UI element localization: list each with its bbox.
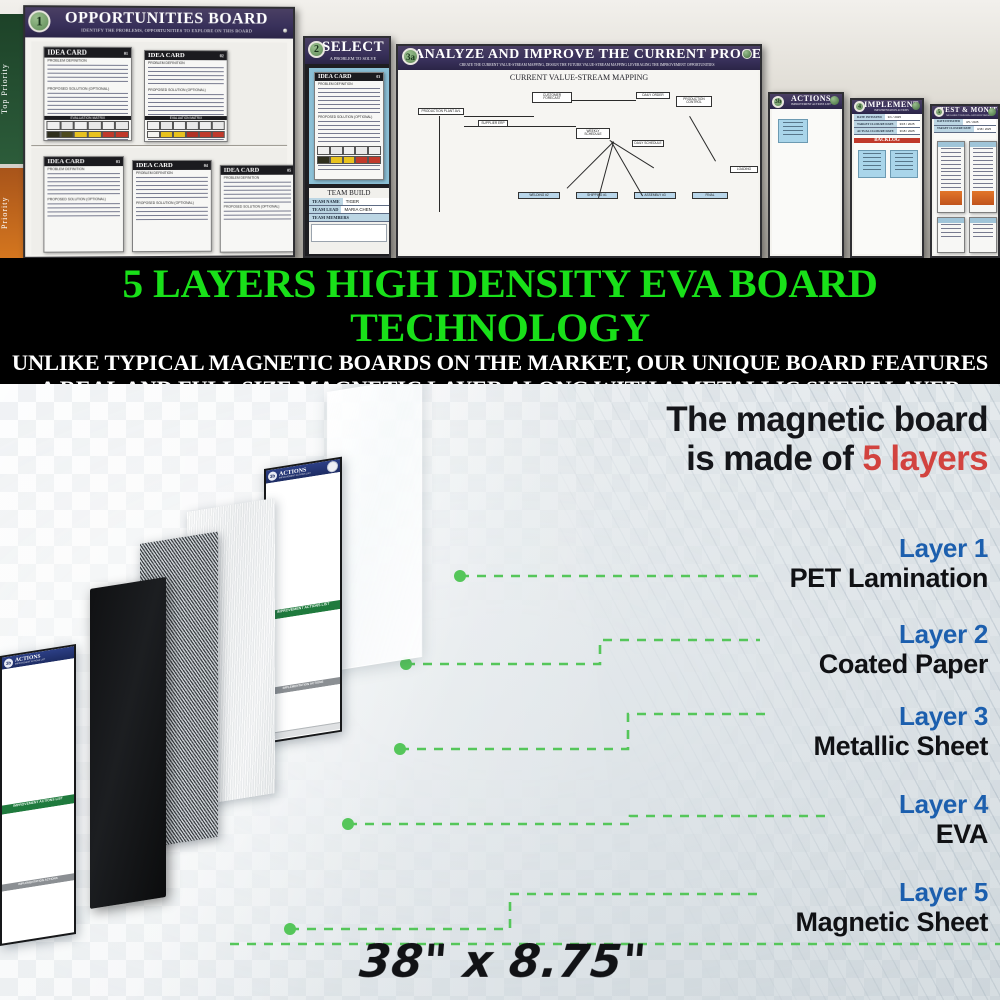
team-row: TEAM NAME TIGER <box>309 198 389 206</box>
printed-board-back-panel-a <box>2 658 74 805</box>
board-4-body: DATE INITIATED 3/1 / 2025 TARGET CLOSURE… <box>854 114 920 254</box>
board-1-row-bottom: IDEA CARD 03 PROBLEM DEFINITION PROPOSED… <box>31 148 287 255</box>
idea-card-section-1: PROBLEM DEFINITION <box>221 175 294 181</box>
layer-5-number: Layer 5 <box>796 878 988 907</box>
diagram-heading-prefix: is made of <box>686 439 862 478</box>
board-3a-subtitle: CREATE THE CURRENT VALUE-STREAM MAPPING,… <box>398 63 760 67</box>
board-implement: 4 IMPLEMENT IMPLEMENTATION ACTIONS DATE … <box>850 98 924 258</box>
idea-card-label: IDEA CARD <box>47 49 86 57</box>
layer-2-coated-paper-board-front: 3b ACTIONS IMPROVEMENT ACTIONS LIST IMPR… <box>264 457 342 744</box>
idea-card: IDEA CARD 02 PROBLEM DEFINITION PROPOSED… <box>144 50 228 142</box>
test-row-label: DATE INITIATED <box>934 119 963 125</box>
idea-card-label: IDEA CARD <box>148 52 185 59</box>
board-select: 2 SELECT A PROBLEM TO SOLVE IDEA CARD 03… <box>303 36 391 258</box>
vsm-node: SUPPLIER ERP <box>478 120 508 127</box>
board-3a-header: 3a ANALYZE AND IMPROVE THE CURRENT PROCE… <box>398 46 760 70</box>
board-3b-header: 3b ACTIONS IMPROVEMENT ACTIONS LIST <box>770 94 842 109</box>
kpi-card <box>937 217 965 253</box>
implement-row: TARGET CLOSURE DATE 3/15 / 2025 <box>854 121 920 128</box>
vsm-node: PRODUCTION PLANT AVL <box>418 108 464 115</box>
vsm-node: PRODUCTION CONTROL <box>676 96 712 107</box>
idea-card-section-2: PROPOSED SOLUTION (OPTIONAL) <box>145 87 227 93</box>
product-infographic: Top Priority Priority 1 OPPORTUNITIES BO… <box>0 0 1000 1000</box>
sticky-note <box>858 150 886 178</box>
kpi-card <box>969 141 997 213</box>
board-4-subtitle: IMPLEMENTATION ACTIONS <box>852 109 922 112</box>
backlog-label: BACKLOG <box>854 138 920 143</box>
idea-card: IDEA CARD 03 PROBLEM DEFINITION PROPOSED… <box>314 72 384 180</box>
board-actions: 3b ACTIONS IMPROVEMENT ACTIONS LIST <box>768 92 844 258</box>
vsm-node: FINAL <box>692 192 728 199</box>
idea-card-section-2: PROPOSED SOLUTION (OPTIONAL) <box>221 204 294 210</box>
board-1-title: OPPORTUNITIES BOARD <box>25 7 293 29</box>
board-3a-magnet-dot <box>742 49 752 59</box>
implement-row-label: TARGET CLOSURE DATE <box>854 121 897 127</box>
board-size-caption: 38" x 8.75" <box>356 935 651 988</box>
printed-board-panel-a <box>266 472 340 612</box>
implement-row-label: ACTUAL CLOSURE DATE <box>854 128 897 134</box>
diagram-heading-line-2: is made of 5 layers <box>666 439 988 478</box>
board-2-card-well: IDEA CARD 03 PROBLEM DEFINITION PROPOSED… <box>309 68 389 184</box>
layer-1-number: Layer 1 <box>790 534 988 563</box>
board-3b-body <box>772 109 840 254</box>
board-opportunities: 1 OPPORTUNITIES BOARD IDENTIFY THE PROBL… <box>23 5 295 258</box>
vsm-node: DAILY SCHEDULE <box>632 140 664 147</box>
idea-card-section-3: EVALUATION MATRIX <box>145 116 227 120</box>
board-test-monitor: 5 TEST & MONITOR MEASURE YOUR KPIs AND B… <box>930 104 1000 258</box>
board-2-header: 2 SELECT A PROBLEM TO SOLVE <box>305 38 389 64</box>
implement-row-value: 3/18 / 2025 <box>897 128 920 134</box>
layers-diagram: 3b ACTIONS IMPROVEMENT ACTIONS LIST IMPR… <box>0 384 1000 1000</box>
kpi-card <box>937 141 965 213</box>
test-row-value: 3/18 / 2025 <box>974 126 996 132</box>
layer-2-number: Layer 2 <box>819 620 988 649</box>
idea-card-label: IDEA CARD <box>224 167 259 174</box>
vsm-node: DAILY ORDER <box>636 92 670 99</box>
idea-card: IDEA CARD 05 PROBLEM DEFINITION PROPOSED… <box>220 165 295 253</box>
layer-label-3: Layer 3 Metallic Sheet <box>814 702 988 761</box>
idea-card: IDEA CARD 01 PROBLEM DEFINITION PROPOSED… <box>43 47 132 142</box>
team-row-label: TEAM MEMBERS <box>309 214 389 221</box>
printed-board-number: 3b <box>268 471 277 481</box>
board-5-magnet-dot <box>988 108 996 116</box>
idea-card-label: IDEA CARD <box>47 158 84 165</box>
rail-top-priority: Top Priority <box>0 14 26 164</box>
board-1-header: 1 OPPORTUNITIES BOARD IDENTIFY THE PROBL… <box>25 7 293 38</box>
vsm-node: WELDING #2 <box>518 192 560 199</box>
layer-3-number: Layer 3 <box>814 702 988 731</box>
idea-card-section-2: PROPOSED SOLUTION (OPTIONAL) <box>44 86 131 92</box>
team-build-panel: TEAM BUILD TEAM NAME TIGER TEAM LEAD MAR… <box>309 188 389 254</box>
idea-card-section-1: PROBLEM DEFINITION <box>44 166 123 172</box>
printed-board-magnet-dot <box>327 460 338 473</box>
idea-card-section-1: PROBLEM DEFINITION <box>315 81 383 87</box>
printed-board-back-panel-b <box>2 803 74 884</box>
team-row-value: MARIA CHEN <box>341 206 389 213</box>
vsm-node: WEEKLY SCHEDULE <box>576 128 610 139</box>
banner-subtitle-line-1: UNLIKE TYPICAL MAGNETIC BOARDS ON THE MA… <box>0 350 1000 376</box>
layer-label-2: Layer 2 Coated Paper <box>819 620 988 679</box>
layer-4-number: Layer 4 <box>899 790 988 819</box>
vsm-diagram: PRODUCTION PLANT AVL CUSTOMER FORECAST S… <box>400 70 758 254</box>
test-row: TARGET CLOSURE DATE 3/18 / 2025 <box>934 126 996 133</box>
kpi-card <box>969 217 997 253</box>
board-1-row-top: IDEA CARD 01 PROBLEM DEFINITION PROPOSED… <box>31 41 287 146</box>
team-row-label: TEAM LEAD <box>309 206 341 213</box>
diagram-heading: The magnetic board is made of 5 layers <box>666 400 988 478</box>
idea-card-section-2: PROPOSED SOLUTION (OPTIONAL) <box>133 200 211 206</box>
test-row-value: 3/5 / 2025 <box>963 119 996 125</box>
board-1-subtitle: IDENTIFY THE PROBLEMS, OPPORTUNITIES TO … <box>25 27 293 33</box>
board-3b-magnet-dot <box>830 96 839 105</box>
diagram-heading-highlight: 5 layers <box>862 439 988 478</box>
layer-2-name: Coated Paper <box>819 649 988 679</box>
idea-card-section-1: PROBLEM DEFINITION <box>145 60 227 66</box>
layer-5-magnetic-sheet <box>90 577 166 909</box>
headline-banner: 5 LAYERS HIGH DENSITY EVA BOARD TECHNOLO… <box>0 258 1000 384</box>
banner-title: 5 LAYERS HIGH DENSITY EVA BOARD TECHNOLO… <box>0 258 1000 350</box>
board-4-magnet-dot <box>912 102 920 110</box>
idea-card-label: IDEA CARD <box>318 74 352 80</box>
implement-row: DATE INITIATED 3/1 / 2025 <box>854 114 920 121</box>
test-row-label: TARGET CLOSURE DATE <box>934 126 974 132</box>
idea-card-label: IDEA CARD <box>136 162 173 169</box>
layer-label-4: Layer 4 EVA <box>899 790 988 849</box>
team-row: TEAM LEAD MARIA CHEN <box>309 206 389 214</box>
test-row: DATE INITIATED 3/5 / 2025 <box>934 119 996 126</box>
board-analyze: 3a ANALYZE AND IMPROVE THE CURRENT PROCE… <box>396 44 762 258</box>
layer-3-name: Metallic Sheet <box>814 731 988 761</box>
idea-card-section-2: PROPOSED SOLUTION (OPTIONAL) <box>44 196 123 202</box>
diagram-heading-line-1: The magnetic board <box>666 400 988 439</box>
layer-2-coated-paper-board-back: 3b ACTIONS IMPROVEMENT ACTIONS LIST IMPR… <box>0 644 76 946</box>
team-row-value: TIGER <box>343 198 389 205</box>
implement-row-value: 3/1 / 2025 <box>885 114 920 120</box>
team-build-heading: TEAM BUILD <box>309 188 389 198</box>
implement-row-value: 3/15 / 2025 <box>897 121 920 127</box>
idea-card-section-1: PROBLEM DEFINITION <box>44 58 131 64</box>
implement-row-label: DATE INITIATED <box>854 114 885 120</box>
idea-card: IDEA CARD 03 PROBLEM DEFINITION PROPOSED… <box>43 156 124 253</box>
idea-card-section-3: EVALUATION MATRIX <box>44 116 131 120</box>
layer-label-5: Layer 5 Magnetic Sheet <box>796 878 988 937</box>
layer-5-name: Magnetic Sheet <box>796 907 988 937</box>
board-1-magnet-dot <box>283 29 287 33</box>
layer-4-name: EVA <box>899 819 988 849</box>
printed-board-panel-b <box>266 609 340 689</box>
rail-priority: Priority <box>0 168 26 258</box>
idea-card-section-2: PROPOSED SOLUTION (OPTIONAL) <box>315 114 383 120</box>
team-row: TEAM MEMBERS <box>309 214 389 222</box>
sticky-note <box>890 150 918 178</box>
implement-row: ACTUAL CLOSURE DATE 3/18 / 2025 <box>854 128 920 135</box>
sticky-note <box>778 119 808 143</box>
layer-1-name: PET Lamination <box>790 563 988 593</box>
team-row-label: TEAM NAME <box>309 198 343 205</box>
vsm-canvas-wrap: CURRENT VALUE-STREAM MAPPING PRODUCTION … <box>400 70 758 254</box>
product-photo-strip: Top Priority Priority 1 OPPORTUNITIES BO… <box>0 0 1000 258</box>
board-3a-title: ANALYZE AND IMPROVE THE CURRENT PROCESS <box>398 46 760 63</box>
vsm-node: LOADING <box>730 166 758 173</box>
priority-rail: Top Priority Priority <box>0 0 26 258</box>
vsm-node: CUSTOMER FORECAST <box>532 92 572 103</box>
printed-board-back-number: 3b <box>4 657 13 667</box>
vsm-node: SHIPPING #1 <box>576 192 618 199</box>
board-5-body: DATE INITIATED 3/5 / 2025 TARGET CLOSURE… <box>934 119 996 254</box>
idea-card: IDEA CARD 04 PROBLEM DEFINITION PROPOSED… <box>132 160 212 252</box>
board-4-header: 4 IMPLEMENT IMPLEMENTATION ACTIONS <box>852 100 922 114</box>
idea-card-section-1: PROBLEM DEFINITION <box>133 170 211 176</box>
board-5-header: 5 TEST & MONITOR MEASURE YOUR KPIs AND B… <box>932 106 998 119</box>
board-2-subtitle: A PROBLEM TO SOLVE <box>305 56 389 61</box>
layer-label-1: Layer 1 PET Lamination <box>790 534 988 593</box>
